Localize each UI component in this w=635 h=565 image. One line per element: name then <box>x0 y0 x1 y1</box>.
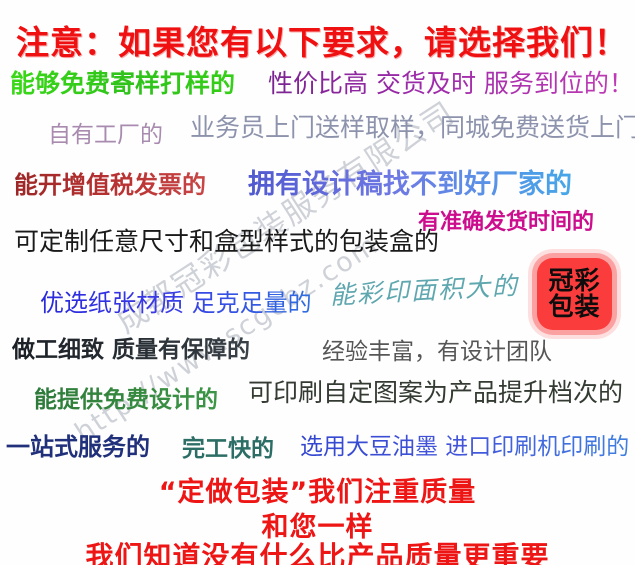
feature-design-draft: 拥有设计稿找不到好厂家的 <box>248 162 572 201</box>
feature-value-service: 性价比高 交货及时 服务到位的！ <box>268 64 634 100</box>
feature-free-design: 能提供免费设计的 <box>34 380 218 414</box>
stamp-line-top: 冠彩 <box>548 268 600 295</box>
feature-soy-ink: 选用大豆油墨 进口印刷机印刷的 <box>300 427 629 461</box>
feature-free-sample: 能够免费寄样打样的 <box>10 64 235 100</box>
feature-delivery-sample: 业务员上门送样取样，同城免费送货上门的 <box>190 108 635 144</box>
feature-own-factory: 自有工厂的 <box>48 115 163 149</box>
company-stamp-logo: 冠彩 包装 <box>537 258 612 330</box>
feature-tax-invoice: 能开增值税发票的 <box>14 165 206 200</box>
page-title: 注意：如果您有以下要求，请选择我们！ <box>16 16 628 64</box>
feature-paper-quality: 优选纸张材质 足克足量的 <box>40 283 312 318</box>
feature-workmanship: 做工细致 质量有保障的 <box>12 330 250 364</box>
feature-custom-size: 可定制任意尺寸和盒型样式的包装盒的 <box>14 222 439 258</box>
footer-slogan-line-1: “定做包装”我们注重质量 <box>0 470 635 509</box>
feature-fast-finish: 完工快的 <box>182 429 274 463</box>
stamp-line-bottom: 包装 <box>548 294 600 321</box>
promo-poster: 成都冠彩包装服务有限公司 http://www.scgcbz.com 注意：如果… <box>0 0 635 565</box>
feature-exact-ship-time: 有准确发货时间的 <box>418 204 594 236</box>
feature-experienced: 经验丰富，有设计团队 <box>322 332 552 366</box>
feature-one-stop: 一站式服务的 <box>6 427 150 462</box>
footer-slogan-line-3: 我们知道没有什么比产品质量更重要 <box>0 535 635 565</box>
feature-large-area-print: 能彩印面积大的 <box>329 266 520 312</box>
feature-custom-print: 可印刷自定图案为产品提升档次的 <box>248 373 623 409</box>
